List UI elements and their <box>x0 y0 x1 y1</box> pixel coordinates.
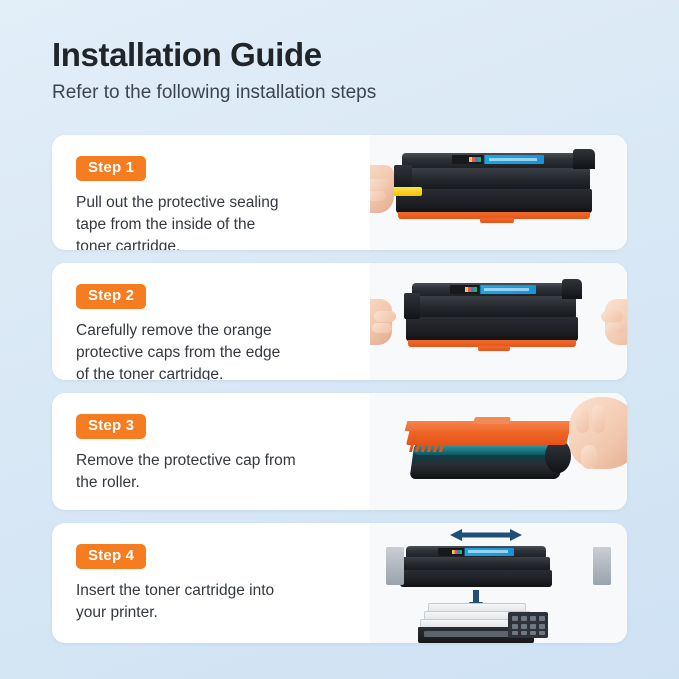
step-card-3: Step 3 Remove the protective cap from th… <box>52 393 627 510</box>
cartridge-brand-label <box>452 155 544 164</box>
step-3-artwork <box>370 393 627 510</box>
finger-right-middle <box>605 323 625 333</box>
cartridge-right-guide-rail <box>593 547 611 585</box>
cartridge-right-end-cap <box>573 149 595 169</box>
cartridge-left-guide-rail <box>386 547 404 585</box>
panel-key <box>521 631 527 635</box>
finger-left-index <box>374 311 396 322</box>
step-3-badge: Step 3 <box>76 414 146 439</box>
panel-key <box>521 616 527 621</box>
label-text-strip <box>484 288 529 291</box>
cartridge-lower-shell <box>396 189 592 213</box>
cartridge-orange-tab <box>478 346 510 351</box>
finger-middle <box>592 405 605 433</box>
step-2-description: Carefully remove the orange protective c… <box>76 320 348 380</box>
orange-protective-cap <box>406 429 570 445</box>
orange-cap-teeth <box>409 444 447 452</box>
step-1-description: Pull out the protective sealing tape fro… <box>76 192 348 250</box>
steps-list: Step 1 Pull out the protective sealing t… <box>52 135 627 656</box>
step-4-description: Insert the toner cartridge into your pri… <box>76 580 348 624</box>
step-4-illustration <box>370 523 627 643</box>
page-subtitle: Refer to the following installation step… <box>52 82 632 105</box>
step-2-text-column: Step 2 Carefully remove the orange prote… <box>52 263 370 380</box>
finger-middle <box>370 191 386 201</box>
hand-left <box>370 299 392 345</box>
panel-key <box>539 616 545 621</box>
orange-cap-tab <box>473 417 511 424</box>
step-card-1: Step 1 Pull out the protective sealing t… <box>52 135 627 250</box>
horizontal-double-arrow-icon <box>448 527 524 543</box>
cartridge-lower-shell <box>406 317 578 341</box>
panel-key <box>539 624 545 629</box>
step-card-4: Step 4 Insert the toner cartridge into y… <box>52 523 627 643</box>
page-title: Installation Guide <box>52 36 632 74</box>
cartridge-brand-label <box>450 285 536 294</box>
step-card-2: Step 2 Carefully remove the orange prote… <box>52 263 627 380</box>
cartridge-right-end-cap <box>562 279 582 299</box>
installation-guide-page: Installation Guide Refer to the followin… <box>0 0 679 679</box>
step-2-badge: Step 2 <box>76 284 146 309</box>
finger-index <box>576 407 589 433</box>
cartridge-orange-tab <box>480 218 514 223</box>
step-4-text-column: Step 4 Insert the toner cartridge into y… <box>52 523 370 643</box>
step-4-badge: Step 4 <box>76 544 146 569</box>
panel-key <box>539 631 545 635</box>
thumb <box>581 445 597 469</box>
finger-left-middle <box>372 323 392 333</box>
label-color-dots <box>469 157 481 161</box>
step-1-text-column: Step 1 Pull out the protective sealing t… <box>52 135 370 250</box>
finger-right-index <box>601 311 623 322</box>
step-1-artwork <box>370 135 627 250</box>
panel-key <box>530 616 536 621</box>
label-text-strip <box>489 158 537 161</box>
cartridge-middle-shell <box>398 168 590 190</box>
step-4-artwork <box>370 523 627 643</box>
step-2-illustration <box>370 263 627 380</box>
step-2-artwork <box>370 263 627 380</box>
cartridge-left-end-cap <box>404 293 420 319</box>
finger-index <box>370 179 390 190</box>
step-1-illustration <box>370 135 627 250</box>
panel-key <box>512 631 518 635</box>
label-text-strip <box>468 550 508 553</box>
step-3-description: Remove the protective cap from the rolle… <box>76 450 348 494</box>
page-header: Installation Guide Refer to the followin… <box>52 36 632 105</box>
cartridge-lower-shell <box>400 570 552 587</box>
step-1-badge: Step 1 <box>76 156 146 181</box>
panel-key <box>512 624 518 629</box>
step-3-text-column: Step 3 Remove the protective cap from th… <box>52 393 370 510</box>
step-3-illustration <box>370 393 627 510</box>
panel-key <box>530 624 536 629</box>
panel-key <box>512 616 518 621</box>
hand-right <box>605 299 627 345</box>
panel-key <box>521 624 527 629</box>
printer-control-panel <box>508 612 548 638</box>
cartridge-brand-label <box>438 548 514 556</box>
cartridge-middle-shell <box>408 296 576 318</box>
panel-key <box>530 631 536 635</box>
label-color-dots <box>452 550 462 554</box>
cartridge-middle-shell <box>402 557 550 571</box>
label-color-dots <box>465 287 476 291</box>
